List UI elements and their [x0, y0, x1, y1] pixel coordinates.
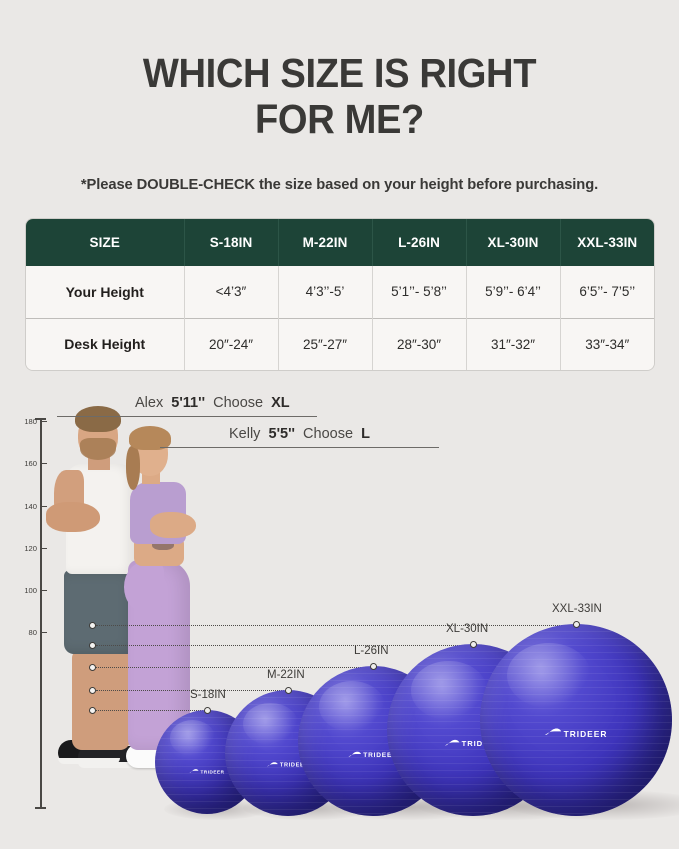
kelly-ponytail [126, 446, 140, 490]
table-row: Desk Height 20″-24″ 25″-27″ 28″-30″ 31″-… [26, 318, 654, 370]
annotation-alex-height: 5'11'' [171, 395, 205, 411]
alex-beard [80, 438, 116, 460]
table-header-s-18in: S-18IN [184, 219, 278, 266]
annotation-alex-name: Alex [135, 395, 163, 411]
annotation-kelly-size: L [361, 426, 370, 442]
table-header: SIZE S-18IN M-22IN L-26IN XL-30IN XXL-33… [26, 219, 654, 266]
cell-desk-height-l: 28″-30″ [372, 318, 466, 370]
leg-marker-xl [89, 642, 96, 649]
connector-line-l [96, 667, 373, 668]
ball-highlight-l [319, 681, 385, 732]
annotation-kelly-rule [160, 447, 439, 448]
trideer-swoosh-icon [189, 769, 198, 776]
ball-highlight-s [170, 720, 216, 755]
annotation-alex: Alex 5'11'' Choose XL [135, 395, 290, 411]
cell-desk-height-xxl: 33″-34″ [560, 318, 654, 370]
ball-label-xxl: XXL-33IN [552, 603, 602, 615]
cell-your-height-s: <4’3″ [184, 266, 278, 318]
alex-legs [72, 650, 130, 750]
ball-tip-xxl [573, 621, 580, 628]
cell-desk-height-xl: 31″-32″ [466, 318, 560, 370]
ball-label-m: M-22IN [267, 669, 305, 681]
ball-tip-xl [470, 641, 477, 648]
leg-marker-xxl [89, 622, 96, 629]
kelly-hip [124, 562, 164, 612]
leg-marker-s [89, 707, 96, 714]
ball-highlight-xl [411, 661, 487, 719]
table-header-size: SIZE [26, 219, 184, 266]
trideer-logo-xxl: TRIDEER [545, 728, 608, 738]
trideer-swoosh-icon [545, 728, 562, 738]
ball-label-s: S-18IN [190, 689, 226, 701]
trideer-swoosh-icon [445, 739, 460, 749]
page-title: WHICH SIZE IS RIGHT FOR ME? [0, 50, 679, 142]
table-header-xxl-33in: XXL-33IN [560, 219, 654, 266]
row-label-your-height: Your Height [26, 266, 184, 318]
ball-tip-s [204, 707, 211, 714]
trideer-logo-s: TRIDEER [189, 769, 224, 776]
table-header-row: SIZE S-18IN M-22IN L-26IN XL-30IN XXL-33… [26, 219, 654, 266]
ball-tip-m [285, 687, 292, 694]
ball-tip-l [370, 663, 377, 670]
annotation-alex-size: XL [271, 395, 290, 411]
ball-label-l: L-26IN [354, 645, 389, 657]
kelly-folded-arms [150, 512, 196, 538]
connector-line-xl [96, 645, 472, 646]
annotation-kelly-name: Kelly [229, 426, 260, 442]
annotation-kelly: Kelly 5'5'' Choose L [229, 426, 370, 442]
alex-hair [75, 406, 121, 432]
table-body: Your Height <4’3″ 4’3’’-5’ 5’1’’- 5’8’’ … [26, 266, 654, 370]
subtitle-note: *Please DOUBLE-CHECK the size based on y… [10, 176, 669, 193]
cell-desk-height-m: 25″-27″ [278, 318, 372, 370]
page-title-line-1: WHICH SIZE IS RIGHT [24, 50, 655, 96]
connector-line-xxl [96, 625, 574, 626]
table-header-xl-30in: XL-30IN [466, 219, 560, 266]
size-chart-table: SIZE S-18IN M-22IN L-26IN XL-30IN XXL-33… [26, 219, 654, 370]
connector-line-s [96, 710, 207, 711]
annotation-kelly-choose: Choose [303, 426, 353, 442]
table-row: Your Height <4’3″ 4’3’’-5’ 5’1’’- 5’8’’ … [26, 266, 654, 318]
alex-folded-arms [46, 502, 100, 532]
trideer-swoosh-icon [348, 751, 361, 761]
cell-your-height-l: 5’1’’- 5’8’’ [372, 266, 466, 318]
annotation-kelly-height: 5'5'' [269, 426, 295, 442]
table-header-m-22in: M-22IN [278, 219, 372, 266]
leg-marker-m [89, 687, 96, 694]
annotation-alex-choose: Choose [213, 395, 263, 411]
size-guide-page: WHICH SIZE IS RIGHT FOR ME? *Please DOUB… [0, 0, 679, 849]
exercise-ball-xxl[interactable]: TRIDEER [480, 624, 672, 816]
trideer-wordmark-s: TRIDEER [200, 770, 224, 775]
cell-desk-height-s: 20″-24″ [184, 318, 278, 370]
cell-your-height-m: 4’3’’-5’ [278, 266, 372, 318]
trideer-wordmark-xxl: TRIDEER [564, 728, 608, 738]
table-header-l-26in: L-26IN [372, 219, 466, 266]
ball-highlight-m [243, 703, 298, 746]
height-comparison-illustration: 180 160 140 120 100 80 [0, 386, 679, 849]
ball-label-xl: XL-30IN [446, 623, 488, 635]
page-title-line-2: FOR ME? [24, 96, 655, 142]
leg-marker-l [89, 664, 96, 671]
cell-your-height-xxl: 6’5’’- 7’5’’ [560, 266, 654, 318]
cell-your-height-xl: 5’9’’- 6’4’’ [466, 266, 560, 318]
row-label-desk-height: Desk Height [26, 318, 184, 370]
trideer-swoosh-icon [267, 761, 278, 770]
annotation-alex-rule [57, 416, 317, 417]
